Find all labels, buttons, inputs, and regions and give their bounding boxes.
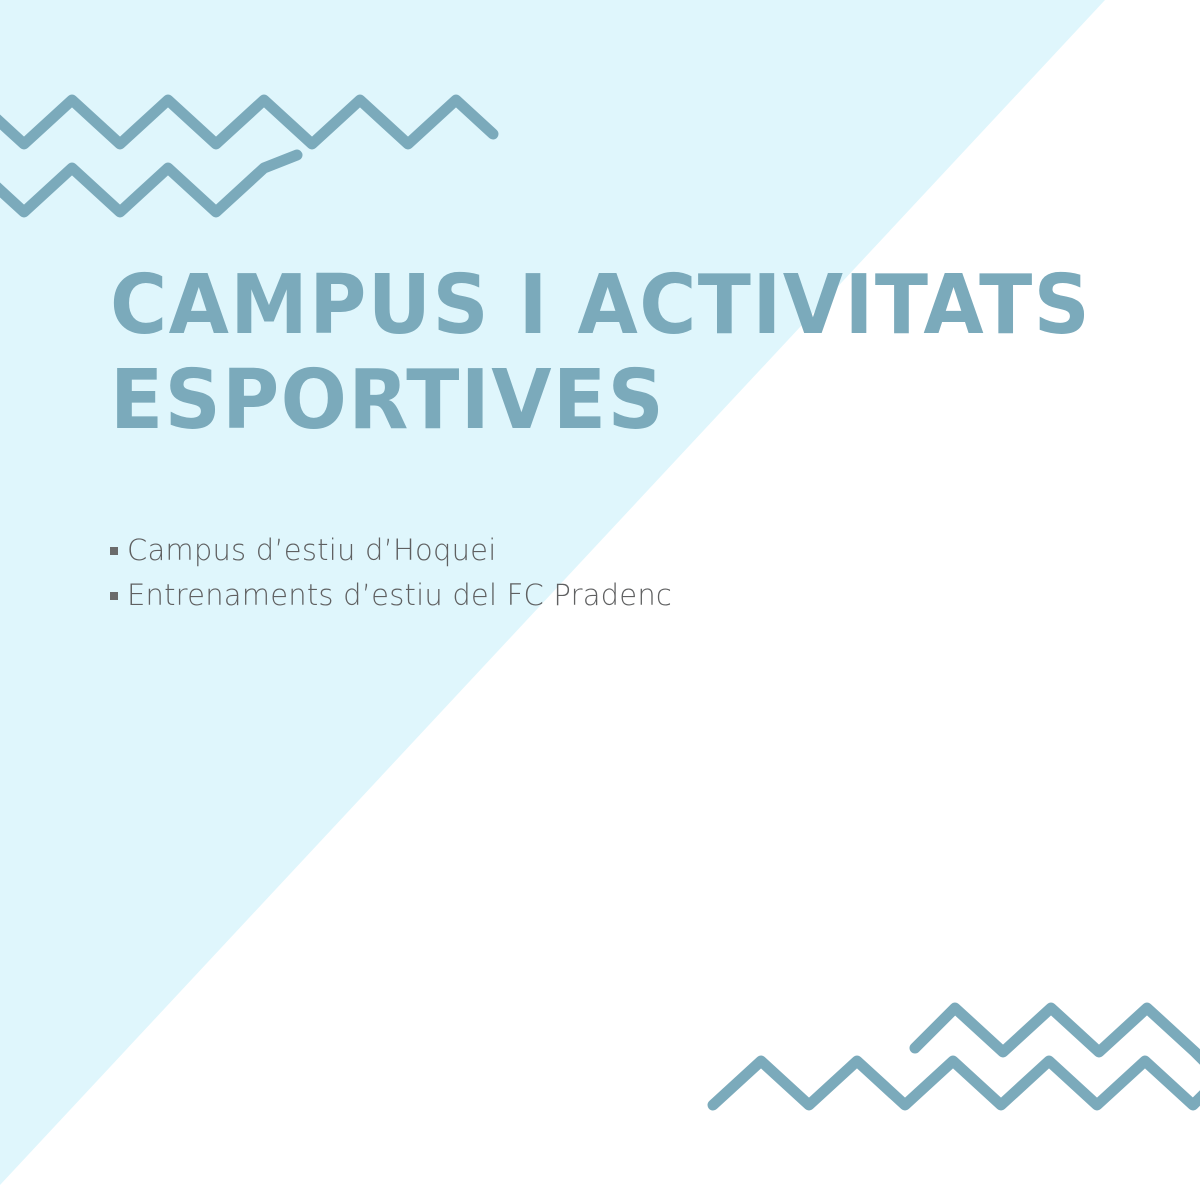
square-bullet-icon — [110, 592, 118, 600]
page-title: Campus i activitats Esportives — [110, 258, 1070, 448]
list-item-label: Campus d’estiu d’Hoquei — [127, 533, 496, 567]
slide-canvas: Campus i activitats Esportives Campus d’… — [0, 0, 1200, 1200]
page-title-line-1: Campus i activitats — [110, 258, 1022, 353]
list-item: Entrenaments d’estiu del FC Pradenc — [110, 578, 910, 612]
list-item-label: Entrenaments d’estiu del FC Pradenc — [127, 578, 672, 612]
bullet-list: Campus d’estiu d’Hoquei Entrenaments d’e… — [110, 533, 910, 623]
square-bullet-icon — [110, 547, 118, 555]
page-title-line-2: Esportives — [110, 353, 1022, 448]
list-item: Campus d’estiu d’Hoquei — [110, 533, 910, 567]
